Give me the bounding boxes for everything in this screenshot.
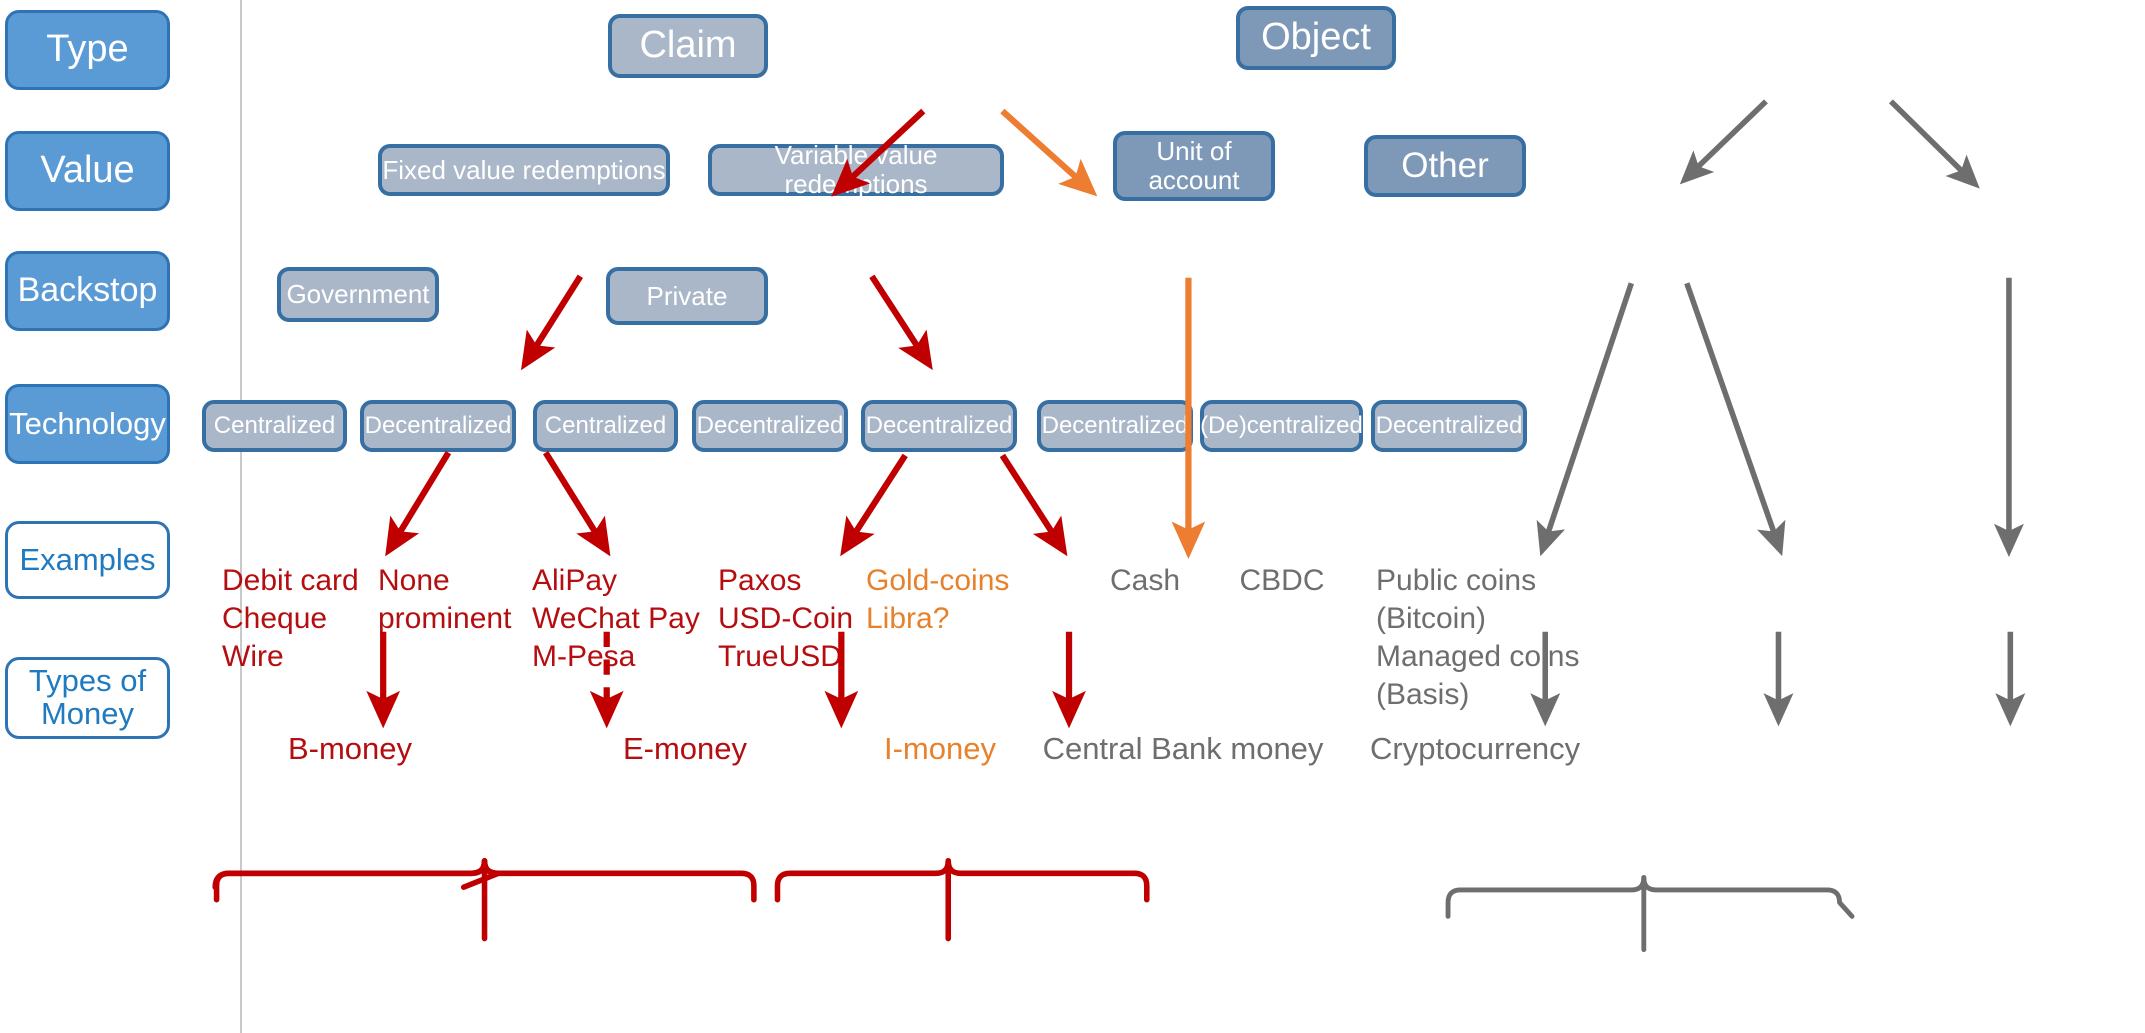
- node-object-label: Object: [1261, 17, 1371, 59]
- diagram-canvas: Type Value Backstop Technology Examples …: [0, 0, 2145, 1033]
- money-type-b-money: B-money: [230, 690, 470, 769]
- row-label-type-text: Type: [46, 30, 128, 70]
- node-tech-gov-centralized-label: Centralized: [214, 413, 335, 439]
- node-government-label: Government: [286, 280, 429, 309]
- examples-e-decentralized: Paxos USD-Coin TrueUSD: [718, 524, 888, 676]
- examples-b-centralized: Debit card Cheque Wire: [222, 524, 382, 676]
- examples-cryptocurrency: Public coins (Bitcoin) Managed coins (Ba…: [1376, 524, 1586, 714]
- node-tech-priv-decentralized-label: Decentralized: [697, 413, 844, 439]
- money-type-cryptocurrency-text: Cryptocurrency: [1370, 731, 1580, 766]
- row-label-examples-text: Examples: [19, 544, 155, 577]
- brace-e-money: [777, 861, 1146, 900]
- node-tech-priv-centralized[interactable]: Centralized: [533, 400, 678, 452]
- examples-b-decentralized: None prominent: [378, 524, 543, 638]
- examples-e-decentralized-text: Paxos USD-Coin TrueUSD: [718, 564, 853, 673]
- examples-cash: Cash: [1085, 524, 1205, 600]
- examples-b-centralized-text: Debit card Cheque Wire: [222, 564, 359, 673]
- money-type-cryptocurrency: Cryptocurrency: [1370, 690, 1610, 769]
- column-divider: [240, 0, 242, 1033]
- examples-b-decentralized-text: None prominent: [378, 564, 511, 635]
- brace-b-money: [215, 861, 498, 887]
- node-variable-value-label: Variable value redemptions: [712, 141, 1000, 198]
- arrow-uoa-to-decentralized: [1545, 283, 1631, 541]
- examples-i-money: Gold-coins Libra?: [866, 524, 1031, 638]
- node-tech-uoa-decentralized-label: Decentralized: [1042, 413, 1189, 439]
- money-type-i-money-text: I-money: [884, 731, 996, 766]
- node-tech-uoa-de-centralized-label: (De)centralized: [1200, 413, 1363, 439]
- examples-cash-text: Cash: [1110, 564, 1180, 597]
- node-private-label: Private: [647, 282, 728, 311]
- node-tech-uoa-de-centralized[interactable]: (De)centralized: [1200, 400, 1363, 452]
- row-label-backstop-text: Backstop: [18, 273, 158, 309]
- node-tech-variable-decentralized-label: Decentralized: [866, 413, 1013, 439]
- brace-b-money-full: [217, 861, 754, 900]
- money-type-i-money: I-money: [860, 690, 1020, 769]
- examples-cbdc: CBDC: [1222, 524, 1342, 600]
- node-fixed-value-redemptions[interactable]: Fixed value redemptions: [378, 144, 670, 196]
- money-type-e-money-text: E-money: [623, 731, 747, 766]
- node-tech-gov-decentralized[interactable]: Decentralized: [360, 400, 516, 452]
- node-tech-other-decentralized[interactable]: Decentralized: [1371, 400, 1527, 452]
- arrow-uoa-to-de-centralized: [1687, 283, 1777, 541]
- row-label-backstop: Backstop: [5, 251, 170, 331]
- node-unit-of-account[interactable]: Unit of account: [1113, 131, 1275, 201]
- node-claim-label: Claim: [639, 25, 736, 67]
- row-label-types-of-money-text: Types of Money: [29, 665, 146, 730]
- money-type-b-money-text: B-money: [288, 731, 412, 766]
- arrow-object-to-other: [1891, 101, 1969, 177]
- arrow-fixed-to-government: [530, 276, 580, 355]
- node-tech-variable-decentralized[interactable]: Decentralized: [861, 400, 1017, 452]
- connector-overlay: [0, 0, 2145, 1033]
- node-tech-gov-centralized[interactable]: Centralized: [202, 400, 347, 452]
- examples-e-centralized-text: AliPay WeChat Pay M-Pesa: [532, 564, 700, 673]
- row-label-technology: Technology: [5, 384, 170, 464]
- money-type-central-bank-money: Central Bank money: [1038, 690, 1328, 769]
- node-tech-other-decentralized-label: Decentralized: [1376, 413, 1523, 439]
- node-tech-priv-decentralized[interactable]: Decentralized: [692, 400, 848, 452]
- node-other[interactable]: Other: [1364, 135, 1526, 197]
- node-variable-value-redemptions[interactable]: Variable value redemptions: [708, 144, 1004, 196]
- row-label-type: Type: [5, 10, 170, 90]
- arrow-claim-to-variable: [1002, 111, 1084, 185]
- node-tech-priv-centralized-label: Centralized: [545, 413, 666, 439]
- money-type-central-bank-money-text: Central Bank money: [1043, 731, 1324, 766]
- examples-e-centralized: AliPay WeChat Pay M-Pesa: [532, 524, 722, 676]
- row-label-types-of-money: Types of Money: [5, 657, 170, 739]
- node-tech-uoa-decentralized[interactable]: Decentralized: [1037, 400, 1193, 452]
- node-tech-gov-decentralized-label: Decentralized: [365, 413, 512, 439]
- node-fixed-value-label: Fixed value redemptions: [382, 156, 665, 185]
- examples-cbdc-text: CBDC: [1239, 564, 1324, 597]
- node-unit-of-account-label: Unit of account: [1148, 137, 1239, 194]
- node-government[interactable]: Government: [277, 267, 439, 322]
- row-label-examples: Examples: [5, 521, 170, 599]
- row-label-value-text: Value: [40, 151, 134, 191]
- node-claim[interactable]: Claim: [608, 14, 768, 78]
- node-private[interactable]: Private: [606, 267, 768, 325]
- arrow-fixed-to-private: [872, 276, 923, 355]
- money-type-e-money: E-money: [570, 690, 800, 769]
- node-object[interactable]: Object: [1236, 6, 1396, 70]
- node-other-label: Other: [1401, 147, 1489, 186]
- row-label-value: Value: [5, 131, 170, 211]
- row-label-technology-text: Technology: [9, 408, 166, 441]
- examples-i-money-text: Gold-coins Libra?: [866, 564, 1009, 635]
- brace-central-bank-money: [1448, 877, 1852, 916]
- arrow-object-to-unit-of-account: [1691, 101, 1766, 173]
